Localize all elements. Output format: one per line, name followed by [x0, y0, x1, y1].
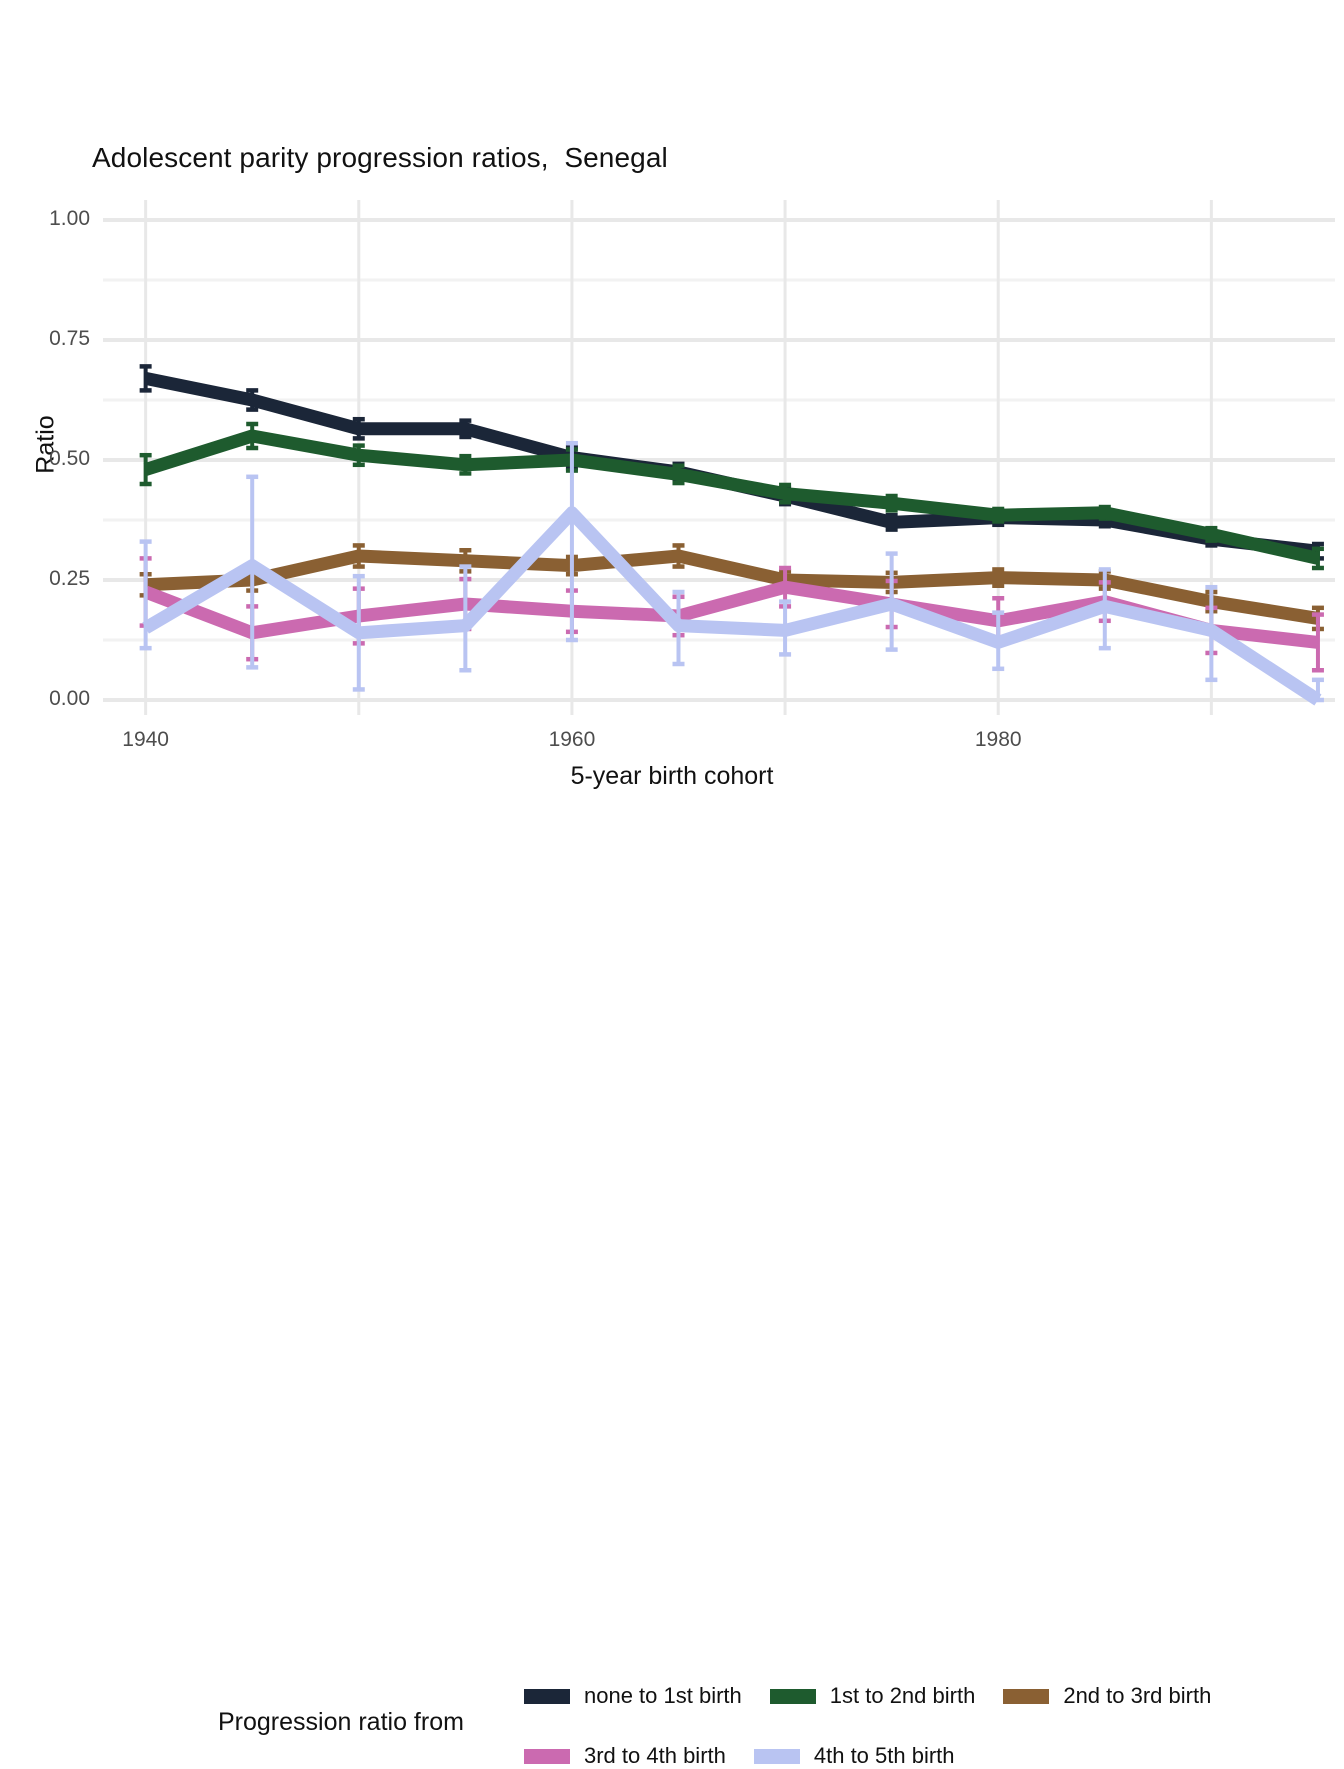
series-1 — [140, 424, 1324, 568]
legend-item[interactable]: 4th to 5th birth — [754, 1743, 955, 1769]
legend-item-label: 2nd to 3rd birth — [1063, 1683, 1211, 1709]
series-0 — [140, 366, 1324, 558]
legend: Progression ratio from none to 1st birth… — [0, 835, 1344, 955]
series-group — [140, 366, 1324, 700]
legend-item[interactable]: 3rd to 4th birth — [524, 1743, 726, 1769]
legend-swatch — [524, 1689, 570, 1704]
legend-item-label: 4th to 5th birth — [814, 1743, 955, 1769]
legend-item-label: 1st to 2nd birth — [830, 1683, 976, 1709]
legend-item[interactable]: 1st to 2nd birth — [770, 1683, 976, 1709]
legend-item-label: 3rd to 4th birth — [584, 1743, 726, 1769]
series-line — [146, 436, 1318, 558]
grid-major-group — [103, 200, 1335, 715]
plot-area — [0, 0, 1344, 960]
legend-item-label: none to 1st birth — [584, 1683, 742, 1709]
legend-swatch — [770, 1689, 816, 1704]
legend-swatch — [754, 1749, 800, 1764]
legend-item[interactable]: none to 1st birth — [524, 1683, 742, 1709]
legend-row: none to 1st birth1st to 2nd birth2nd to … — [524, 1683, 1239, 1709]
legend-swatch — [524, 1749, 570, 1764]
legend-row: 3rd to 4th birth4th to 5th birth — [524, 1743, 983, 1769]
legend-item[interactable]: 2nd to 3rd birth — [1003, 1683, 1211, 1709]
legend-title: Progression ratio from — [218, 1708, 464, 1737]
legend-swatch — [1003, 1689, 1049, 1704]
chart-figure: Adolescent parity progression ratios, Se… — [0, 0, 1344, 960]
